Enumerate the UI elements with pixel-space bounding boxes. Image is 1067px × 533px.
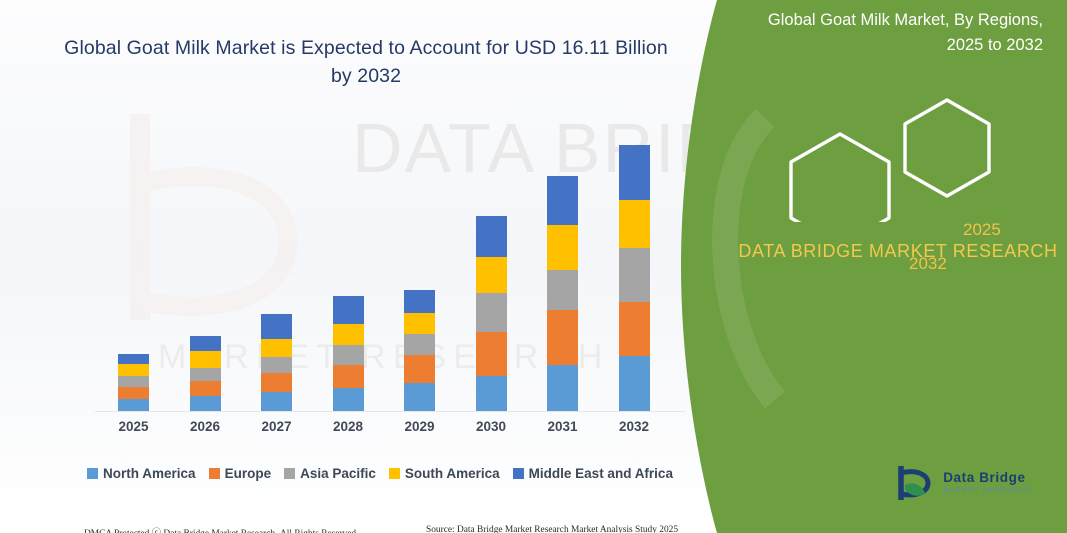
legend-swatch [389,468,400,479]
bar-segment [476,376,507,411]
x-axis-label-2031: 2031 [528,419,598,434]
bar-segment [333,324,364,345]
legend-item-north-america[interactable]: North America [87,466,196,481]
legend-item-europe[interactable]: Europe [209,466,272,481]
bar-segment [190,336,221,351]
bar-2030[interactable] [476,216,507,411]
bar-segment [476,257,507,293]
bar-2029[interactable] [404,290,435,411]
x-axis-label-2027: 2027 [242,419,312,434]
bar-2031[interactable] [547,176,578,411]
x-axis-label-2030: 2030 [456,419,526,434]
legend-swatch [209,468,220,479]
bar-segment [619,302,650,356]
bar-segment [261,373,292,392]
stacked-bar-chart: 20252026202720282029203020312032 [0,0,760,533]
legend-swatch [87,468,98,479]
logo-mark-icon [895,463,933,503]
bar-2026[interactable] [190,336,221,411]
x-axis-label-2026: 2026 [170,419,240,434]
legend-item-asia-pacific[interactable]: Asia Pacific [284,466,376,481]
bar-segment [261,339,292,357]
panel-curve-highlight [705,0,835,533]
bar-segment [547,176,578,225]
bar-segment [190,396,221,411]
bar-segment [404,334,435,355]
legend-label: Asia Pacific [300,466,376,481]
bar-segment [404,290,435,313]
bar-segment [261,392,292,411]
data-bridge-logo: Data Bridge MARKET RESEARCH [895,463,1031,503]
legend-swatch [284,468,295,479]
legend-item-south-america[interactable]: South America [389,466,500,481]
legend-label: Europe [225,466,272,481]
bar-segment [261,357,292,373]
bar-segment [476,293,507,332]
bar-2032[interactable] [619,145,650,411]
legend-label: North America [103,466,196,481]
x-axis-labels: 20252026202720282029203020312032 [95,419,685,441]
x-axis-label-2028: 2028 [313,419,383,434]
panel-title: Global Goat Milk Market, By Regions, 202… [743,8,1043,58]
bar-segment [547,310,578,365]
bar-segment [190,368,221,381]
bar-segment [333,365,364,388]
bar-segment [404,355,435,383]
bar-segment [619,200,650,248]
bar-segment [333,296,364,324]
bar-2025[interactable] [118,354,149,411]
bar-segment [333,345,364,365]
regions-panel: Global Goat Milk Market, By Regions, 202… [647,0,1067,533]
bar-2028[interactable] [333,296,364,411]
bar-2027[interactable] [261,314,292,411]
bar-segment [118,364,149,376]
x-axis-label-2029: 2029 [385,419,455,434]
bar-segment [619,356,650,411]
bar-segment [333,388,364,411]
chart-panel: DATA BRIDGE MARKET RESEARCH Global Goat … [0,0,760,533]
hexagon-outlines-icon [767,92,1057,222]
bar-segment [619,145,650,200]
bar-segment [190,381,221,396]
bar-segment [476,332,507,376]
footer-source: Source: Data Bridge Market Research Mark… [426,525,678,533]
bar-segment [118,376,149,387]
panel-brand-text: DATA BRIDGE MARKET RESEARCH [647,238,1067,265]
bar-segment [118,387,149,399]
bar-segment [476,216,507,257]
hexagon-group: 2025 2032 [767,92,1057,222]
bar-segment [547,365,578,411]
logo-subtitle: MARKET RESEARCH [943,488,1031,495]
bar-segment [261,314,292,339]
logo-title: Data Bridge [943,471,1031,485]
x-axis-label-2025: 2025 [99,419,169,434]
x-axis-line [95,411,685,412]
bar-segment [547,225,578,270]
bar-segment [404,313,435,334]
legend-swatch [513,468,524,479]
bar-segment [118,354,149,364]
bar-segment [190,351,221,368]
bar-segment [619,248,650,302]
legend-label: South America [405,466,500,481]
infographic-canvas: DATA BRIDGE MARKET RESEARCH Global Goat … [0,0,1067,533]
logo-text: Data Bridge MARKET RESEARCH [943,471,1031,495]
bar-segment [547,270,578,310]
hexagon-label-2025: 2025 [963,220,1001,240]
footer-copyright: DMCA Protected ⓒ Data Bridge Market Rese… [84,525,358,533]
bar-segment [118,399,149,411]
bar-segment [404,383,435,411]
chart-legend: North AmericaEuropeAsia PacificSouth Ame… [0,466,760,481]
